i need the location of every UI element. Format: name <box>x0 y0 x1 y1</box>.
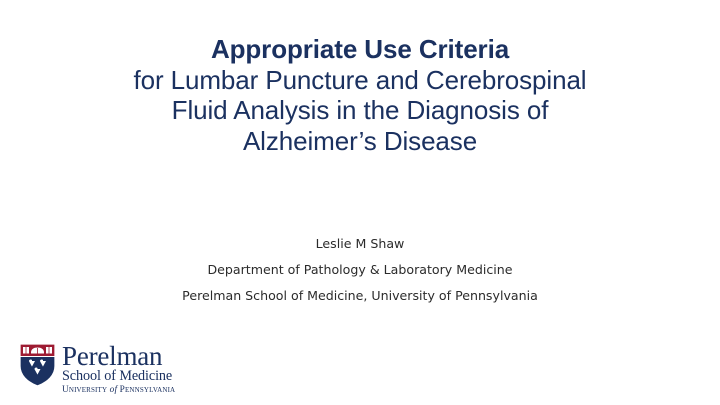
penn-logo-wordmark: Perelman School of Medicine University o… <box>62 342 202 390</box>
logo-wordmark-university: University of Pennsylvania <box>62 385 202 396</box>
penn-perelman-logo: Perelman School of Medicine University o… <box>19 343 199 395</box>
author-institution: Perelman School of Medicine, University … <box>60 283 660 309</box>
slide-canvas: Appropriate Use Criteria for Lumbar Punc… <box>0 0 720 405</box>
title-line-3: Fluid Analysis in the Diagnosis of <box>40 95 680 126</box>
title-line-2: for Lumbar Puncture and Cerebrospinal <box>40 65 680 96</box>
logo-wordmark-perelman: Perelman <box>62 343 202 369</box>
author-name: Leslie M Shaw <box>60 231 660 257</box>
author-affiliation-block: Leslie M Shaw Department of Pathology & … <box>60 231 660 309</box>
title-line-4: Alzheimer’s Disease <box>40 126 680 157</box>
author-department: Department of Pathology & Laboratory Med… <box>60 257 660 283</box>
page-title: Appropriate Use Criteria for Lumbar Punc… <box>40 34 680 156</box>
penn-shield-icon <box>19 343 56 387</box>
title-line-1: Appropriate Use Criteria <box>40 34 680 65</box>
logo-wordmark-school-of-medicine: School of Medicine <box>62 369 202 384</box>
logo-university-prefix: University <box>62 385 110 395</box>
logo-university-suffix: Pennsylvania <box>117 385 175 395</box>
